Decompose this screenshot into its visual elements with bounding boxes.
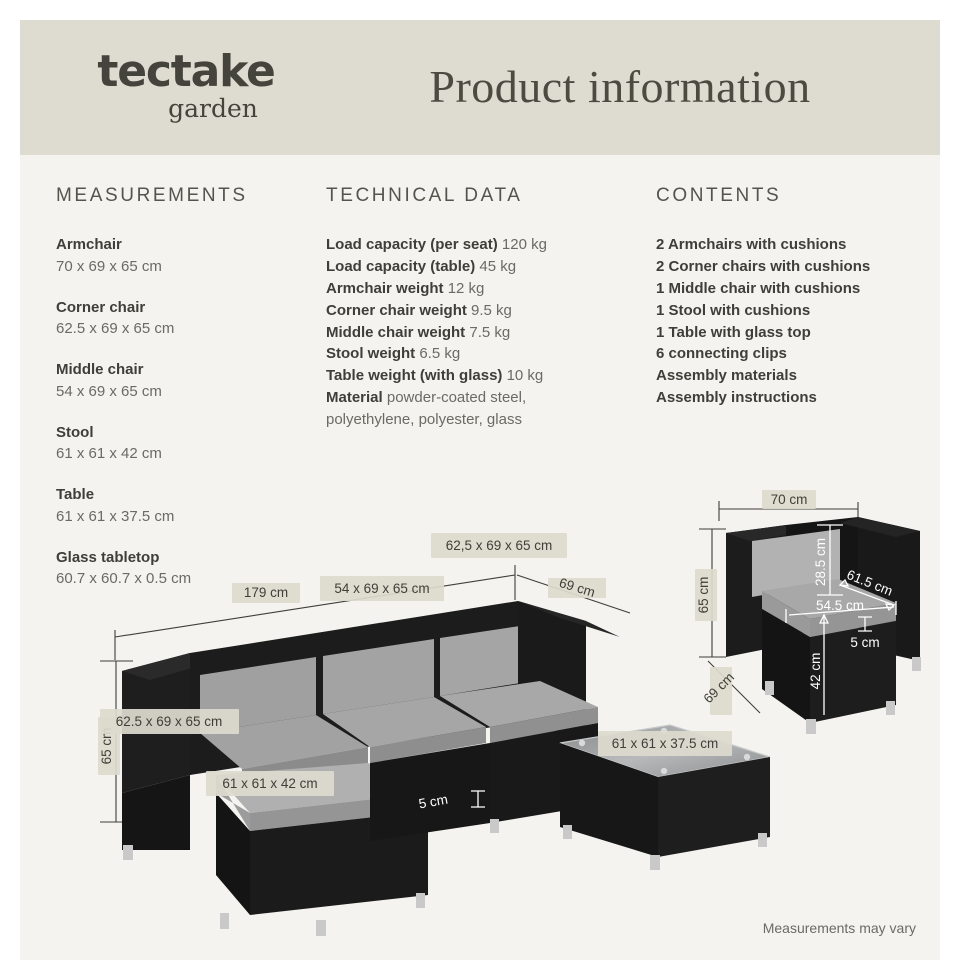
contents-item: 1 Table with glass top: [656, 322, 926, 344]
contents-heading: CONTENTS: [656, 185, 926, 207]
sofa-illustration: 179 cm 69 cm 65 cm: [98, 533, 630, 936]
technical-label: Table weight (with glass): [326, 367, 502, 384]
technical-value: 7.5 kg: [469, 324, 510, 341]
technical-value: 120 kg: [502, 236, 547, 253]
stool-foot: [416, 893, 425, 908]
contents-item: Assembly instructions: [656, 387, 926, 409]
table-foot: [563, 825, 572, 839]
armchair-seat-width-label: 54.5 cm: [816, 598, 864, 613]
contents-item: 1 Middle chair with cushions: [656, 278, 926, 300]
armchair-cushion-label: 5 cm: [850, 635, 879, 650]
measurement-item: Middle chair 54 x 69 x 65 cm: [56, 359, 326, 403]
product-illustrations: 179 cm 69 cm 65 cm: [20, 475, 940, 960]
brand-name: tectake: [76, 50, 296, 94]
contents-item: 2 Corner chairs with cushions: [656, 256, 926, 278]
armchair-foot: [806, 719, 816, 734]
armchair-width-dimension: 70 cm: [719, 490, 858, 521]
stool-label-group: 61 x 61 x 42 cm: [206, 771, 334, 796]
technical-value: 10 kg: [507, 367, 544, 384]
stool-foot: [316, 920, 326, 936]
technical-label: Corner chair weight: [326, 302, 467, 319]
page-title: Product information: [320, 60, 920, 113]
technical-value: 12 kg: [448, 280, 485, 297]
technical-row: Material powder-coated steel,: [326, 387, 636, 409]
sofa-foot: [123, 845, 133, 860]
armchair-foot: [765, 681, 774, 695]
table-label-group: 61 x 61 x 37.5 cm: [598, 731, 732, 756]
technical-label: Load capacity (table): [326, 258, 475, 275]
stool-label: 61 x 61 x 42 cm: [222, 776, 317, 791]
measurement-value: 62.5 x 69 x 65 cm: [56, 318, 326, 340]
technical-value: powder-coated steel,: [387, 389, 526, 406]
sofa-middle-label-group: 54 x 69 x 65 cm: [320, 576, 444, 601]
technical-label: Load capacity (per seat): [326, 236, 498, 253]
product-information-sheet: tectake garden Product information MEASU…: [20, 20, 940, 960]
measurement-value: 61 x 61 x 42 cm: [56, 443, 326, 465]
contents-item: 6 connecting clips: [656, 343, 926, 365]
technical-row: Table weight (with glass) 10 kg: [326, 365, 636, 387]
technical-row: polyethylene, polyester, glass: [326, 409, 636, 431]
technical-row: Middle chair weight 7.5 kg: [326, 322, 636, 344]
measurement-item: Corner chair 62.5 x 69 x 65 cm: [56, 297, 326, 341]
contents-item: 1 Stool with cushions: [656, 300, 926, 322]
armchair-backrest-label: 28.5 cm: [813, 538, 828, 586]
armchair-foot: [886, 701, 895, 715]
measurement-name: Stool: [56, 422, 326, 444]
technical-data-column: TECHNICAL DATA Load capacity (per seat) …: [326, 185, 636, 431]
sofa-corner-left-label-group: 62.5 x 69 x 65 cm: [100, 709, 239, 734]
table-foot: [650, 855, 660, 870]
armchair-height-dimension: 65 cm: [695, 529, 726, 657]
table-glass-stud: [661, 768, 667, 774]
measurement-name: Armchair: [56, 234, 326, 256]
contents-column: CONTENTS 2 Armchairs with cushions 2 Cor…: [656, 185, 926, 409]
technical-value: 9.5 kg: [471, 302, 512, 319]
brand-subtitle: garden: [76, 96, 296, 121]
footnote: Measurements may vary: [763, 920, 916, 936]
technical-value: 45 kg: [479, 258, 516, 275]
brand-logo: tectake garden: [76, 50, 296, 121]
table-glass-stud: [579, 740, 585, 746]
measurement-name: Middle chair: [56, 359, 326, 381]
technical-label: Armchair weight: [326, 280, 444, 297]
technical-row: Armchair weight 12 kg: [326, 278, 636, 300]
technical-data-heading: TECHNICAL DATA: [326, 185, 636, 207]
technical-value: 6.5 kg: [419, 345, 460, 362]
measurement-value: 70 x 69 x 65 cm: [56, 256, 326, 278]
sofa-corner-right-label-group: 62,5 x 69 x 65 cm: [431, 533, 567, 558]
table-illustration: 61 x 61 x 37.5 cm: [560, 725, 770, 870]
sofa-corner-right-label: 62,5 x 69 x 65 cm: [446, 538, 553, 553]
technical-row: Load capacity (table) 45 kg: [326, 256, 636, 278]
technical-row: Stool weight 6.5 kg: [326, 343, 636, 365]
measurement-item: Stool 61 x 61 x 42 cm: [56, 422, 326, 466]
technical-row: Load capacity (per seat) 120 kg: [326, 234, 636, 256]
technical-row: Corner chair weight 9.5 kg: [326, 300, 636, 322]
contents-item: Assembly materials: [656, 365, 926, 387]
technical-value: polyethylene, polyester, glass: [326, 411, 522, 428]
stool-foot: [220, 913, 229, 929]
measurements-heading: MEASUREMENTS: [56, 185, 326, 207]
table-glass-stud: [744, 754, 750, 760]
table-foot: [758, 833, 767, 847]
armchair-illustration: 70 cm 65 cm 69 cm: [695, 490, 921, 734]
measurement-item: Armchair 70 x 69 x 65 cm: [56, 234, 326, 278]
technical-label: Middle chair weight: [326, 324, 465, 341]
armchair-foot: [912, 657, 921, 671]
technical-label: Stool weight: [326, 345, 415, 362]
table-label: 61 x 61 x 37.5 cm: [612, 736, 719, 751]
armchair-width-label: 70 cm: [771, 492, 808, 507]
measurement-value: 54 x 69 x 65 cm: [56, 381, 326, 403]
header-band: tectake garden Product information: [20, 20, 940, 155]
contents-item: 2 Armchairs with cushions: [656, 234, 926, 256]
armchair-seat-height-label: 42 cm: [808, 653, 823, 690]
sofa-middle-label: 54 x 69 x 65 cm: [334, 581, 429, 596]
sofa-width-label: 179 cm: [244, 585, 288, 600]
sofa-corner-left-label: 62.5 x 69 x 65 cm: [116, 714, 223, 729]
sofa-foot: [490, 819, 499, 833]
armchair-depth-dimension: 69 cm: [701, 661, 760, 715]
technical-label: Material: [326, 389, 383, 406]
measurement-name: Corner chair: [56, 297, 326, 319]
armchair-height-label: 65 cm: [696, 577, 711, 614]
